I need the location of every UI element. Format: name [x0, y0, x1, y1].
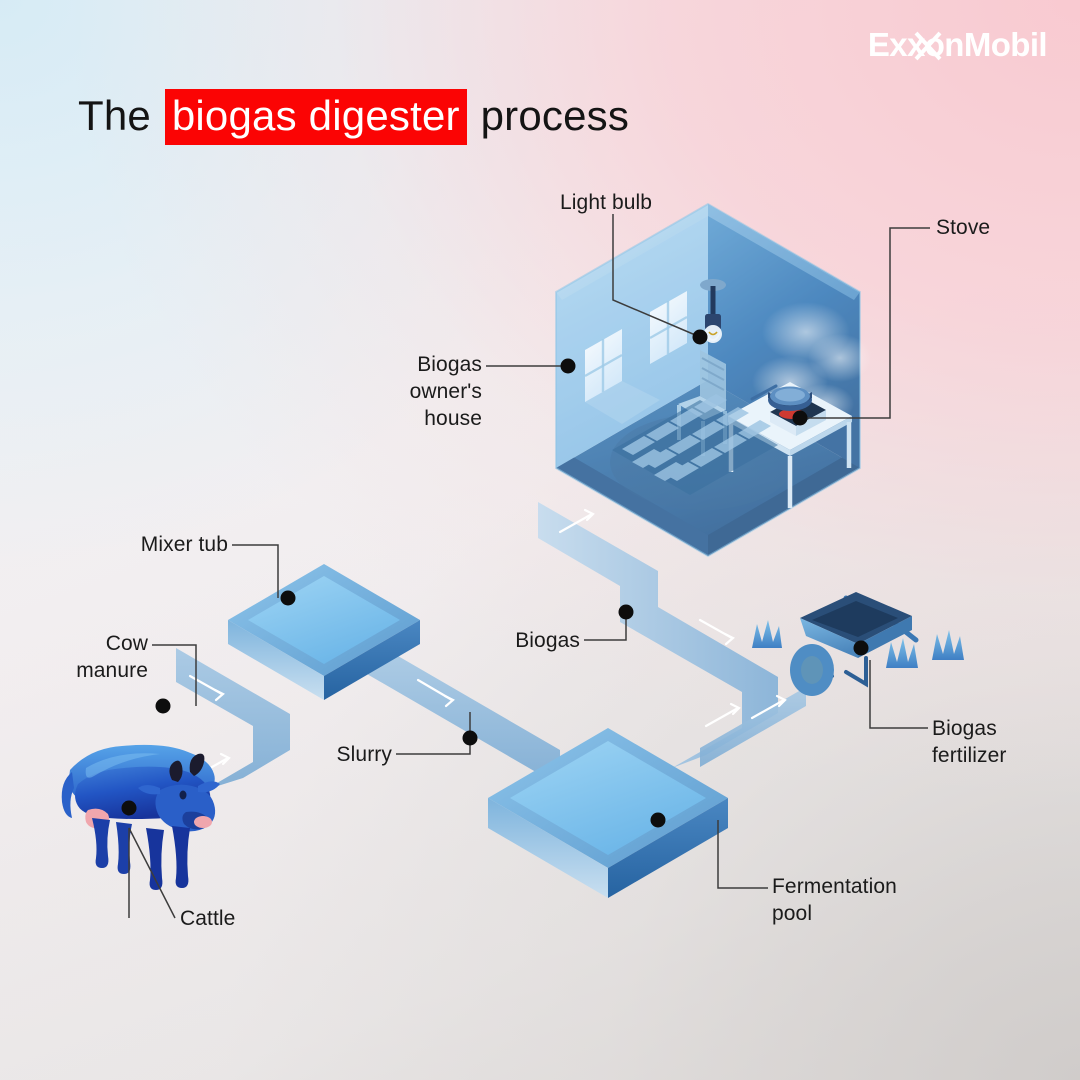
dot-fermentation-pool	[651, 813, 666, 828]
label-biogas: Biogas	[404, 627, 580, 654]
label-biogas-fertilizer: Biogas fertilizer	[932, 715, 1007, 769]
dot-stove	[793, 411, 808, 426]
grass-icon	[886, 638, 918, 668]
dot-house	[561, 359, 576, 374]
cow-icon	[62, 745, 220, 890]
label-mixer-tub: Mixer tub	[32, 531, 228, 558]
house-illustration	[556, 204, 872, 556]
page-title: The biogas digester process	[78, 88, 629, 144]
dot-mixer-tub	[281, 591, 296, 606]
label-cow-manure: Cow manure	[0, 630, 148, 684]
dot-biogas	[619, 605, 634, 620]
label-light-bulb: Light bulb	[560, 189, 652, 216]
title-highlight: biogas digester	[165, 89, 467, 145]
dot-slurry	[463, 731, 478, 746]
exxonmobil-logo: ExxonMobil	[868, 27, 1047, 63]
wheelbarrow-icon	[790, 592, 916, 696]
infographic-canvas: The biogas digester process ExxonMobil L…	[0, 0, 1080, 1080]
label-slurry: Slurry	[216, 741, 392, 768]
label-fermentation-pool: Fermentation pool	[772, 873, 897, 927]
title-prefix: The	[78, 92, 163, 139]
label-cattle: Cattle	[180, 905, 235, 932]
label-biogas-owners-house: Biogas owner's house	[282, 351, 482, 432]
grass-icon	[932, 630, 964, 660]
dot-cow-manure	[156, 699, 171, 714]
dot-fertilizer	[854, 641, 869, 656]
label-stove: Stove	[936, 214, 990, 241]
dot-cattle	[122, 801, 137, 816]
grass-icon	[752, 620, 782, 648]
dot-light-bulb	[693, 330, 708, 345]
logo-wordmark: ExxonMobil	[868, 27, 1047, 63]
title-suffix: process	[469, 92, 629, 139]
